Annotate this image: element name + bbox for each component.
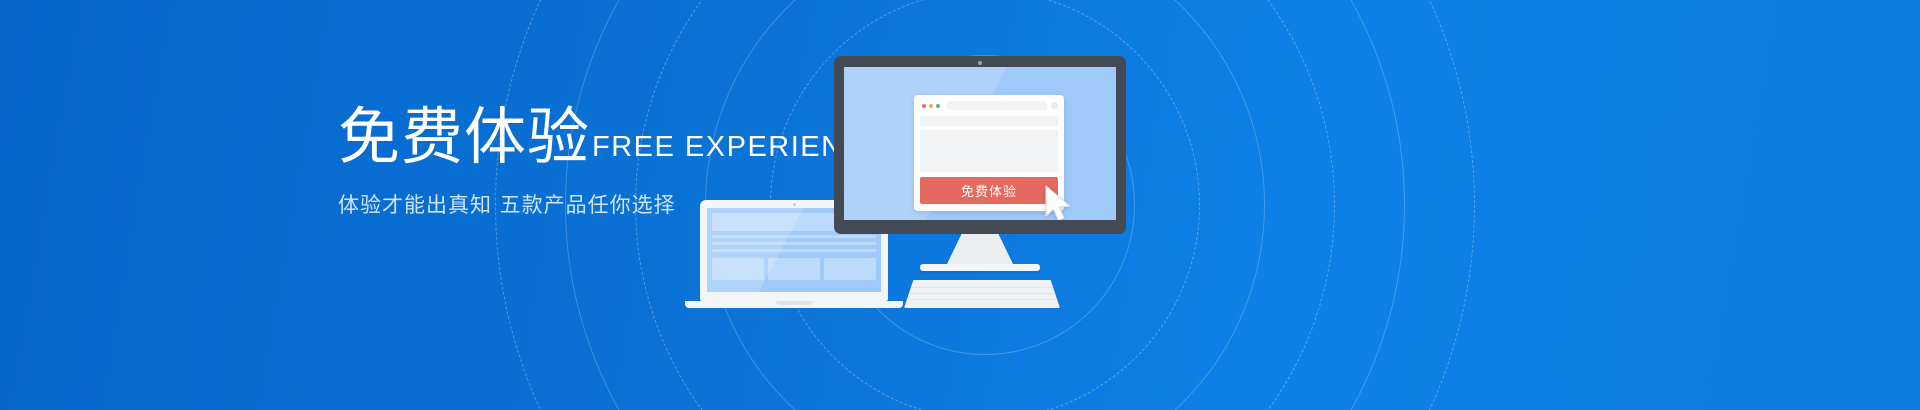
browser-titlebar: [920, 101, 1058, 110]
monitor-screen: 免费体验: [844, 67, 1116, 220]
monitor-camera-icon: [978, 61, 982, 65]
keyboard-row: [910, 299, 1054, 300]
maximize-icon: [936, 104, 940, 108]
monitor-foot: [920, 264, 1040, 271]
browser-window: 免费体验: [914, 95, 1064, 211]
address-bar[interactable]: [947, 101, 1047, 110]
new-tab-icon[interactable]: [1051, 102, 1058, 109]
headline-chinese: 免费体验: [338, 104, 590, 170]
promo-banner: 免费体验 FREE EXPERIENCE 体验才能出真知 五款产品任你选择: [0, 0, 1920, 410]
free-trial-button[interactable]: 免费体验: [920, 177, 1058, 204]
cursor-pointer-icon: [1044, 185, 1074, 220]
close-icon: [922, 104, 926, 108]
laptop-base: [685, 301, 903, 308]
laptop-trackpad-notch: [776, 301, 812, 305]
browser-content-row: [920, 116, 1058, 126]
keyboard-illustration: [904, 280, 1060, 308]
traffic-lights: [920, 104, 940, 108]
monitor-neck: [947, 234, 1013, 264]
keyboard-row: [910, 293, 1054, 294]
keyboard-row: [910, 287, 1054, 288]
browser-content-body: [920, 130, 1058, 172]
monitor-bezel: 免费体验: [834, 56, 1126, 234]
monitor-illustration: 免费体验: [834, 56, 1126, 271]
laptop-camera-icon: [793, 203, 796, 206]
minimize-icon: [929, 104, 933, 108]
